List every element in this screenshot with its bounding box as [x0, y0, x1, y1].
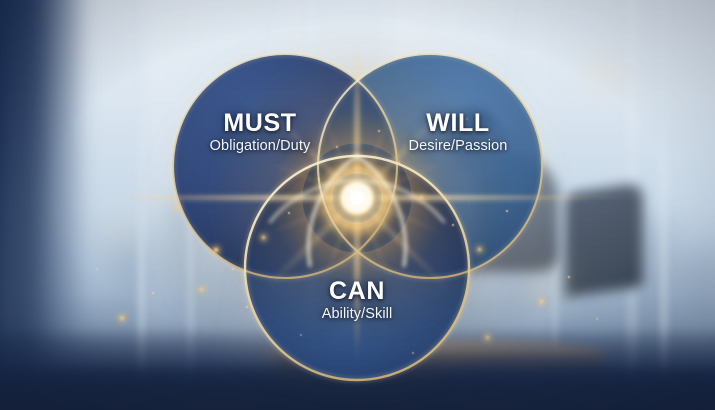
label-will-title: WILL	[384, 110, 532, 136]
label-must-title: MUST	[186, 110, 334, 136]
label-can-title: CAN	[283, 278, 431, 304]
diagram-canvas: MUST Obligation/Duty WILL Desire/Passion…	[0, 0, 715, 410]
label-will: WILL Desire/Passion	[384, 110, 532, 154]
label-will-subtitle: Desire/Passion	[384, 138, 532, 154]
label-must-subtitle: Obligation/Duty	[186, 138, 334, 154]
label-can-subtitle: Ability/Skill	[283, 306, 431, 322]
label-can: CAN Ability/Skill	[283, 278, 431, 322]
label-must: MUST Obligation/Duty	[186, 110, 334, 154]
venn-diagram	[0, 0, 715, 410]
